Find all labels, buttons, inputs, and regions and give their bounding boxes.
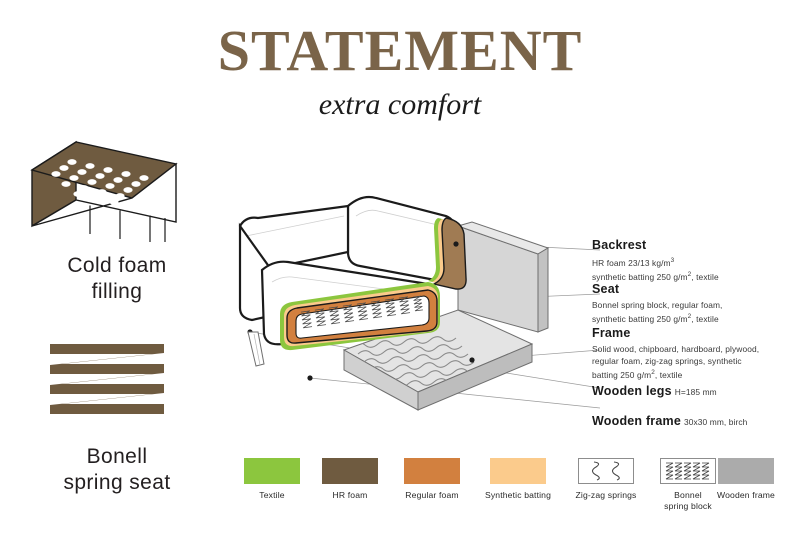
legend-label-synthetic-batting: Synthetic batting [472,490,564,501]
legend-label-zigzag-springs: Zig-zag springs [562,490,650,501]
zigzag-spring-icon [42,338,192,435]
legend-swatch-zigzag-springs [578,458,634,484]
callout-wooden-legs-title: Wooden legs [592,384,672,398]
callout-frame-line3: batting 250 g/m [592,370,651,380]
callout-wooden-legs-spec: H=185 mm [675,387,717,397]
callout-frame-body: Solid wood, chipboard, hardboard, plywoo… [592,344,759,382]
legend-label-regular-foam: Regular foam [393,490,471,501]
callout-seat-title: Seat [592,282,619,296]
sofa-cutaway-illustration [232,182,602,417]
bonell-spring-seat-label: Bonell spring seat [12,444,222,495]
legend-swatch-regular-foam [404,458,460,484]
page-title: STATEMENT [140,22,660,80]
callout-frame-line3-tail: , textile [655,370,682,380]
callout-seat-line2-tail: , textile [691,314,718,324]
legend-swatch-hr-foam [322,458,378,484]
callout-wooden-frame-spec: 30x30 mm, birch [684,417,747,427]
callout-frame-line2: regular foam, zig-zag springs, synthetic [592,356,742,366]
callout-wooden-frame: Wooden frame30x30 mm, birch [592,412,747,430]
legend-item-wooden-frame: Wooden frame [704,458,788,501]
bonell-label-line2: spring seat [12,470,222,496]
callout-backrest: Backrest HR foam 23/13 kg/m3 synthetic b… [592,236,719,283]
legend-label-hr-foam: HR foam [318,490,382,501]
legend-item-synthetic-batting: Synthetic batting [472,458,564,501]
cold-foam-label-line2: filling [12,279,222,305]
callout-seat-line1: Bonnel spring block, regular foam, [592,300,723,310]
page-subtitle: extra comfort [140,90,660,120]
callout-seat-body: Bonnel spring block, regular foam, synth… [592,300,723,326]
callout-backrest-sup1: 3 [671,257,675,264]
callout-seat: Seat Bonnel spring block, regular foam, … [592,280,723,326]
legend-label-textile: Textile [240,490,304,501]
legend: Textile HR foam Regular foam Synthetic b… [240,458,788,520]
callout-backrest-line1: HR foam 23/13 kg/m [592,258,671,268]
callout-frame-line1: Solid wood, chipboard, hardboard, plywoo… [592,344,759,354]
legend-item-textile: Textile [240,458,304,501]
legend-item-zigzag-springs: Zig-zag springs [562,458,650,501]
cold-foam-block-icon [28,122,208,247]
legend-swatch-textile [244,458,300,484]
callout-backrest-title: Backrest [592,238,646,252]
legend-item-regular-foam: Regular foam [393,458,471,501]
cold-foam-label: Cold foam filling [12,253,222,304]
cold-foam-label-line1: Cold foam [12,253,222,279]
legend-item-hr-foam: HR foam [318,458,382,501]
callout-seat-line2: synthetic batting 250 g/m [592,314,688,324]
callout-frame-title: Frame [592,326,631,340]
legend-swatch-wooden-frame [718,458,774,484]
bonell-label-line1: Bonell [12,444,222,470]
callout-wooden-legs: Wooden legsH=185 mm [592,382,717,400]
legend-swatch-synthetic-batting [490,458,546,484]
callout-wooden-frame-title: Wooden frame [592,414,681,428]
infographic-canvas: STATEMENT extra comfort [0,0,800,533]
legend-label-bonnel-line2: spring block [648,501,728,512]
legend-label-wooden-frame: Wooden frame [704,490,788,501]
callout-frame: Frame Solid wood, chipboard, hardboard, … [592,324,759,382]
title-block: STATEMENT extra comfort [140,22,660,120]
